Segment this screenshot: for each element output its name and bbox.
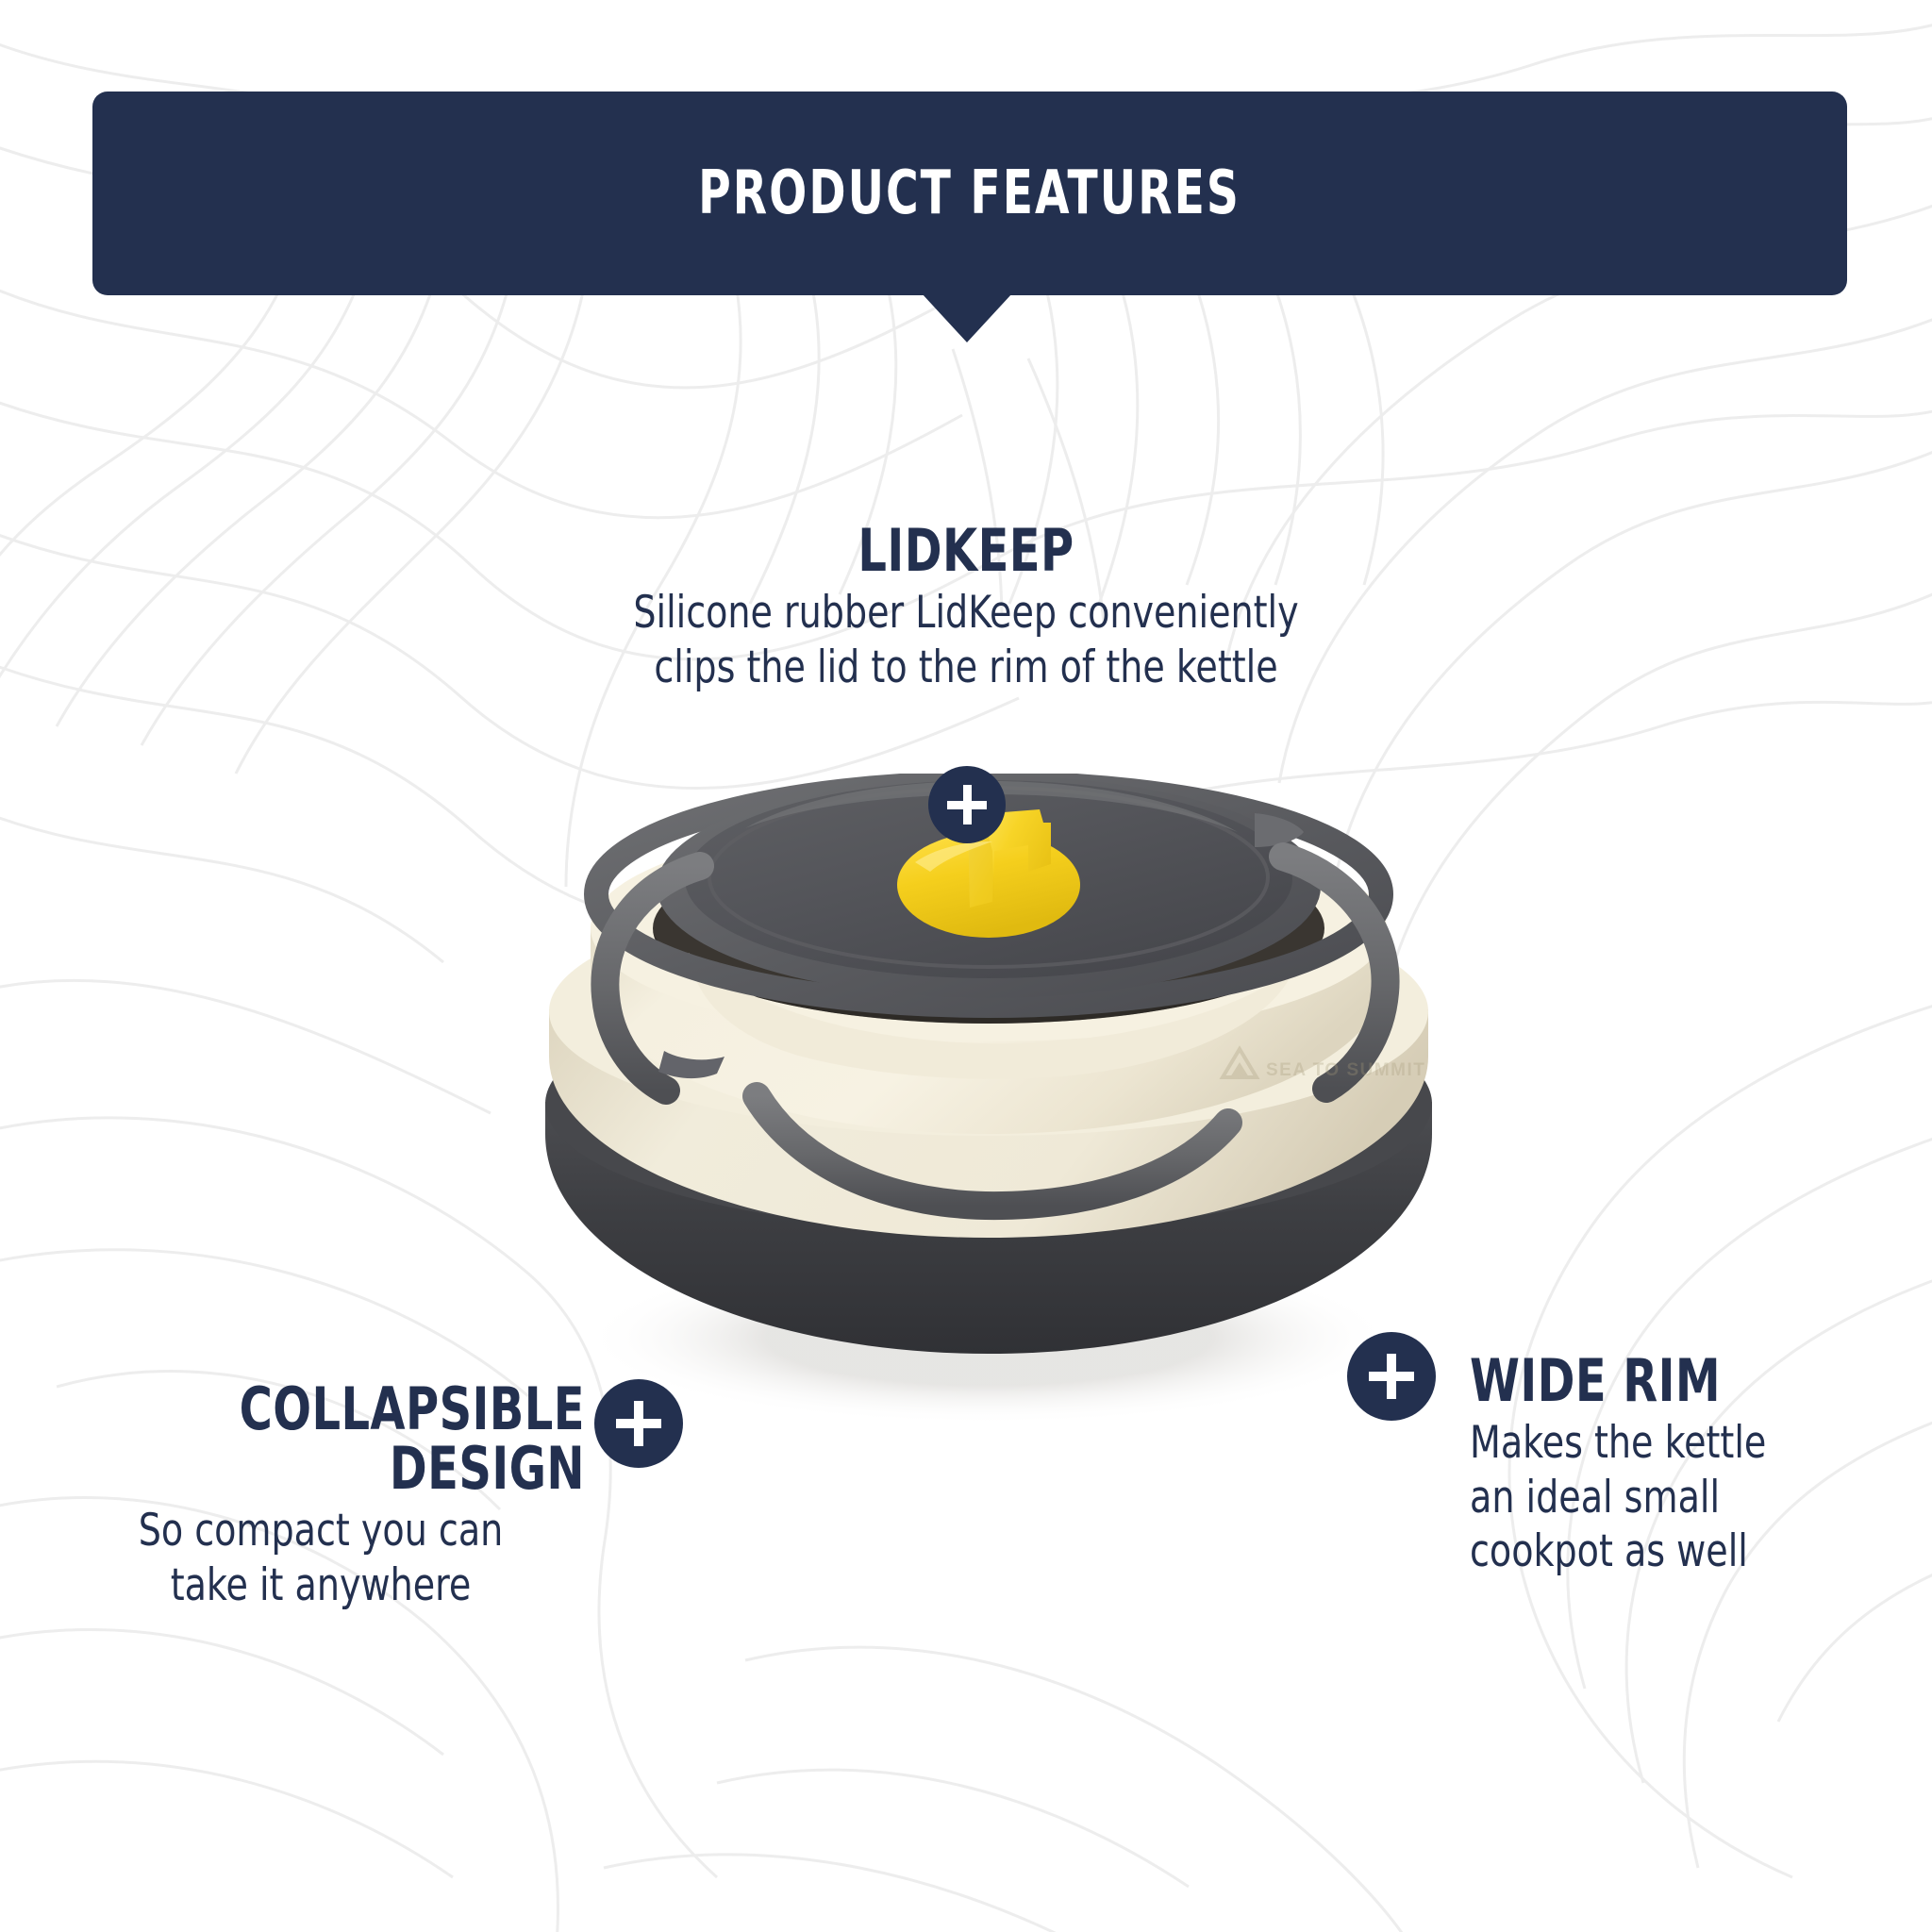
page-title-text: PRODUCT FEATURES xyxy=(699,158,1241,228)
feature-wide-rim-desc-line1: Makes the kettle xyxy=(1470,1416,1869,1470)
feature-wide-rim: WIDE RIM Makes the kettle an ideal small… xyxy=(1470,1351,1913,1578)
banner-pointer-triangle xyxy=(922,293,1012,342)
feature-wide-rim-desc-line2: an ideal small xyxy=(1470,1471,1869,1524)
plus-icon-vertical-bar xyxy=(634,1401,643,1446)
feature-lidkeep-desc-line2: clips the lid to the rim of the kettle xyxy=(541,641,1391,694)
feature-lidkeep-title: LIDKEEP xyxy=(494,521,1438,580)
feature-lidkeep: LIDKEEP Silicone rubber LidKeep convenie… xyxy=(494,521,1438,694)
plus-icon-vertical-bar xyxy=(1387,1354,1396,1399)
plus-icon-vertical-bar xyxy=(963,785,972,824)
feature-collapsible-design: COLLAPSIBLE DESIGN So compact you can ta… xyxy=(57,1379,585,1612)
feature-lidkeep-title-text: LIDKEEP xyxy=(560,521,1372,580)
plus-badge-lidkeep[interactable] xyxy=(928,766,1006,843)
feature-lidkeep-description: Silicone rubber LidKeep conveniently cli… xyxy=(494,586,1438,694)
infographic-canvas: PRODUCT FEATURES xyxy=(0,0,1932,1932)
feature-wide-rim-desc-line3: cookpot as well xyxy=(1470,1524,1869,1578)
header-banner: PRODUCT FEATURES xyxy=(92,92,1847,295)
feature-collapsible-title: COLLAPSIBLE DESIGN xyxy=(57,1379,585,1498)
feature-lidkeep-desc-line1: Silicone rubber LidKeep conveniently xyxy=(541,586,1391,640)
plus-badge-wide-rim[interactable] xyxy=(1347,1332,1436,1421)
page-title: PRODUCT FEATURES xyxy=(92,158,1847,228)
svg-text:SEA TO SUMMIT: SEA TO SUMMIT xyxy=(1266,1060,1425,1080)
feature-wide-rim-title: WIDE RIM xyxy=(1470,1351,1913,1410)
feature-wide-rim-title-text: WIDE RIM xyxy=(1470,1351,1851,1410)
feature-collapsible-description: So compact you can take it anywhere xyxy=(57,1504,585,1612)
feature-collapsible-title-line2: DESIGN xyxy=(130,1439,585,1498)
feature-collapsible-desc-line2: take it anywhere xyxy=(83,1558,558,1612)
plus-badge-collapsible-design[interactable] xyxy=(594,1379,683,1468)
feature-collapsible-desc-line1: So compact you can xyxy=(83,1504,558,1557)
feature-wide-rim-description: Makes the kettle an ideal small cookpot … xyxy=(1470,1416,1913,1578)
feature-collapsible-title-line1: COLLAPSIBLE xyxy=(130,1379,585,1439)
